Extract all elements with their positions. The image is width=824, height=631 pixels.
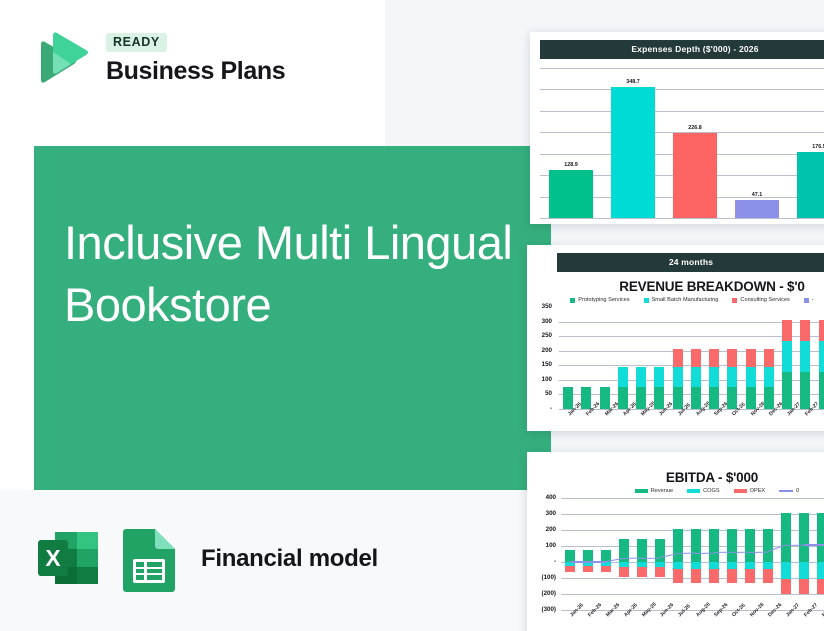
bar-segment: [583, 550, 593, 562]
bar-segment: [691, 349, 701, 366]
bar-segment: [745, 529, 755, 562]
legend-label: Revenue: [651, 488, 673, 494]
bar-segment: [782, 320, 792, 341]
expenses-plot: 128.9348.7226.847.1176.5: [540, 68, 824, 218]
revenue-plot: 35030025020015010050-Jan-26Feb-26Mar-26A…: [559, 307, 824, 409]
bar: [673, 133, 718, 218]
y-axis-tick: -: [530, 405, 552, 412]
financial-model-row: X Financial model: [33, 524, 378, 594]
bar-segment: [727, 387, 737, 409]
bar-segment: [691, 387, 701, 409]
y-axis-tick: (200): [530, 590, 556, 597]
trend-line-segment: [570, 561, 588, 562]
bar-segment: [654, 387, 664, 409]
bar-segment: [727, 569, 737, 583]
y-axis-tick: 200: [530, 526, 556, 533]
trend-line-segment: [750, 551, 768, 553]
bar-value-label: 176.5: [797, 144, 824, 150]
bar-segment: [563, 387, 573, 409]
legend-label: Consulting Services: [740, 297, 789, 303]
y-axis-tick: 150: [530, 361, 552, 368]
bar-segment: [655, 567, 665, 577]
trend-line-segment: [696, 552, 714, 554]
y-axis-tick: 300: [530, 510, 556, 517]
y-axis-tick: 100: [530, 376, 552, 383]
gridline-h: [561, 610, 824, 611]
legend-item: -: [804, 297, 814, 303]
ebitda-legend: RevenueCOGSOPEX0: [585, 488, 824, 494]
chart-card-expenses[interactable]: Expenses Depth ($'000) - 2026 128.9348.7…: [530, 32, 824, 224]
bar-segment: [709, 529, 719, 562]
y-axis-tick: 300: [530, 318, 552, 325]
bar-segment: [781, 513, 791, 562]
bar-segment: [746, 349, 756, 366]
play-triangle-logo: [28, 28, 90, 90]
gridline-h: [540, 68, 824, 69]
brand-name: Business Plans: [106, 57, 285, 86]
bar-segment: [673, 349, 683, 366]
bar-segment: [709, 349, 719, 366]
revenue-title: REVENUE BREAKDOWN - $'0: [575, 279, 824, 294]
bar-segment: [819, 341, 824, 371]
bar-segment: [673, 529, 683, 562]
revenue-legend: Prototyping ServicesSmall Batch Manufact…: [535, 297, 824, 303]
financial-model-label: Financial model: [201, 545, 378, 573]
gridline-h: [540, 111, 824, 112]
bar-segment: [709, 367, 719, 387]
ebitda-title: EBITDA - $'000: [575, 470, 824, 485]
bar-value-label: 226.8: [673, 125, 718, 131]
brand-logo[interactable]: READY Business Plans: [28, 28, 285, 90]
bar-segment: [637, 567, 647, 577]
y-axis-tick: -: [530, 558, 556, 565]
bar-segment: [636, 387, 646, 409]
chart-card-revenue[interactable]: 24 months REVENUE BREAKDOWN - $'0 Protot…: [527, 245, 824, 431]
chart-card-ebitda[interactable]: EBITDA - $'000 RevenueCOGSOPEX0 40030020…: [527, 452, 824, 631]
bar-value-label: 47.1: [735, 192, 780, 198]
bar-segment: [654, 367, 664, 387]
y-axis-tick: 100: [530, 542, 556, 549]
bar-segment: [800, 320, 810, 341]
bar-segment: [763, 529, 773, 562]
bar-segment: [691, 529, 701, 562]
gridline-h: [559, 409, 824, 410]
bar-segment: [600, 387, 610, 409]
bar: [549, 170, 594, 218]
bar-segment: [727, 349, 737, 366]
bar-segment: [691, 562, 701, 569]
trend-line-segment: [588, 561, 606, 562]
legend-swatch-0: [635, 489, 648, 493]
revenue-header: 24 months: [557, 253, 824, 272]
legend-label: OPEX: [750, 488, 766, 494]
bar-segment: [691, 569, 701, 583]
legend-label: -: [812, 297, 814, 303]
bar-segment: [763, 562, 773, 569]
legend-item: COGS: [687, 488, 719, 494]
legend-label: Small Batch Manufacturing: [652, 297, 719, 303]
bar-segment: [565, 550, 575, 562]
bar-segment: [799, 513, 809, 562]
poster-canvas: READY Business Plans Inclusive Multi Lin…: [0, 0, 824, 631]
bar-segment: [727, 367, 737, 387]
expenses-header: Expenses Depth ($'000) - 2026: [540, 40, 824, 59]
gridline-h: [561, 498, 824, 499]
microsoft-excel-icon: X: [33, 524, 103, 594]
bar-segment: [673, 562, 683, 569]
legend-label: COGS: [703, 488, 719, 494]
ebitda-plot: 400300200100-(100)(200)(300)Jan-26Feb-26…: [561, 498, 824, 610]
y-axis-tick: 400: [530, 494, 556, 501]
bar-segment: [782, 341, 792, 371]
bar-segment: [819, 320, 824, 341]
bar-segment: [764, 387, 774, 409]
bar-segment: [583, 566, 593, 573]
bar-segment: [746, 367, 756, 387]
bar-segment: [727, 529, 737, 562]
legend-swatch-2: [734, 489, 747, 493]
bar-segment: [673, 387, 683, 409]
bar-segment: [581, 387, 591, 409]
bar-segment: [745, 569, 755, 583]
bar-value-label: 348.7: [611, 79, 656, 85]
y-axis-tick: (100): [530, 574, 556, 581]
svg-text:X: X: [45, 545, 61, 571]
legend-item: Consulting Services: [732, 297, 789, 303]
legend-item: OPEX: [734, 488, 766, 494]
bar-segment: [618, 387, 628, 409]
legend-swatch-3: [804, 298, 809, 303]
google-sheets-icon: [117, 525, 181, 593]
bar-segment: [691, 367, 701, 387]
bar-value-label: 128.9: [549, 162, 594, 168]
legend-swatch-1: [687, 489, 700, 493]
gridline-h: [540, 89, 824, 90]
trend-line-segment: [804, 544, 822, 545]
bar-segment: [601, 566, 611, 573]
trend-line-segment: [642, 557, 660, 559]
bar-segment: [763, 569, 773, 583]
bar-segment: [745, 562, 755, 569]
page-title: Inclusive Multi Lingual Bookstore: [64, 212, 524, 336]
y-axis-tick: 50: [530, 390, 552, 397]
bar-segment: [800, 341, 810, 371]
bar-segment: [782, 372, 792, 409]
ready-badge: READY: [106, 33, 167, 52]
legend-swatch-0: [570, 298, 575, 303]
legend-item: Small Batch Manufacturing: [644, 297, 719, 303]
bar: [611, 87, 656, 218]
bar-segment: [673, 569, 683, 583]
bar-segment: [799, 562, 809, 579]
bar-segment: [746, 387, 756, 409]
legend-label: 0: [796, 488, 799, 494]
gridline-h: [561, 594, 824, 595]
bar-segment: [709, 387, 719, 409]
hero-panel: Inclusive Multi Lingual Bookstore: [34, 146, 551, 490]
bar-segment: [673, 367, 683, 387]
trend-line-segment: [786, 544, 804, 546]
bar-segment: [636, 367, 646, 387]
legend-swatch-1: [644, 298, 649, 303]
bar-segment: [817, 513, 824, 562]
bar: [797, 152, 824, 218]
bar-segment: [764, 349, 774, 366]
bar-segment: [799, 579, 809, 594]
bar-segment: [819, 372, 824, 409]
bar-segment: [817, 562, 824, 579]
bar-segment: [817, 579, 824, 594]
legend-item: Revenue: [635, 488, 673, 494]
bar-segment: [800, 372, 810, 409]
legend-item: Prototyping Services: [570, 297, 629, 303]
bar-segment: [709, 569, 719, 583]
legend-item: 0: [779, 488, 799, 494]
legend-swatch-2: [732, 298, 737, 303]
bar-segment: [781, 579, 791, 594]
y-axis-tick: 350: [530, 303, 552, 310]
bar-segment: [618, 367, 628, 387]
bar: [735, 200, 780, 218]
gridline-h: [540, 218, 824, 219]
bar-segment: [781, 562, 791, 579]
bar-segment: [709, 562, 719, 569]
bar-segment: [565, 566, 575, 573]
legend-swatch-3: [779, 490, 793, 492]
bar-segment: [619, 567, 629, 577]
y-axis-tick: (300): [530, 606, 556, 613]
bar-segment: [764, 367, 774, 387]
y-axis-tick: 250: [530, 332, 552, 339]
legend-label: Prototyping Services: [578, 297, 629, 303]
y-axis-tick: 200: [530, 347, 552, 354]
bar-segment: [727, 562, 737, 569]
